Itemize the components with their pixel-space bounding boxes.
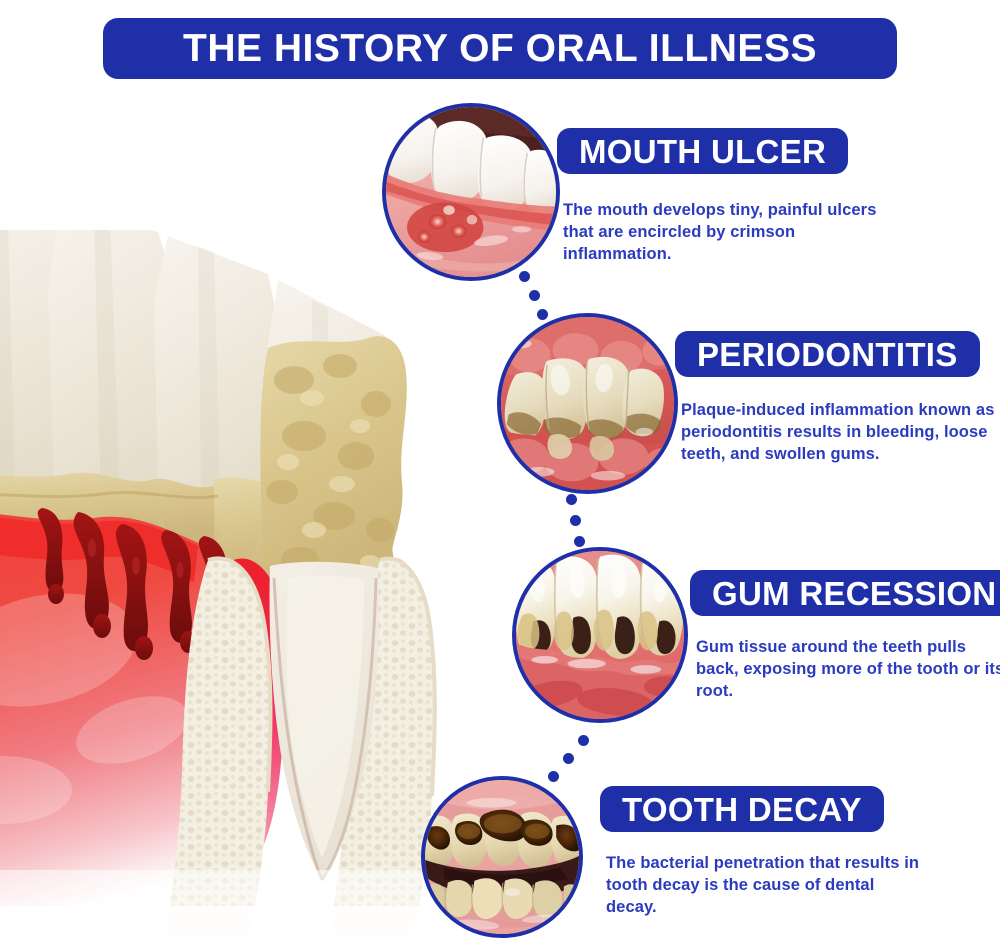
connector-dot	[537, 309, 548, 320]
photo-gum-recession	[512, 547, 688, 723]
heading-tooth-decay-label: TOOTH DECAY	[622, 793, 862, 826]
photo-periodontitis	[497, 313, 678, 494]
connector-dot	[519, 271, 530, 282]
body-gum-recession: Gum tissue around the teeth pulls back, …	[696, 637, 1000, 703]
connector-dot	[548, 771, 559, 782]
heading-gum-recession: GUM RECESSION	[690, 570, 1000, 616]
body-tooth-decay: The bacterial penetration that results i…	[606, 853, 926, 919]
heading-tooth-decay: TOOTH DECAY	[600, 786, 884, 832]
heading-periodontitis: PERIODONTITIS	[675, 331, 980, 377]
connector-dot	[578, 735, 589, 746]
anatomy-illustration	[0, 230, 452, 938]
heading-periodontitis-label: PERIODONTITIS	[697, 338, 958, 371]
body-mouth-ulcer: The mouth develops tiny, painful ulcers …	[563, 200, 893, 266]
page-title-bar: THE HISTORY OF ORAL ILLNESS	[103, 18, 897, 79]
page-title: THE HISTORY OF ORAL ILLNESS	[183, 29, 817, 68]
connector-dot	[574, 536, 585, 547]
infographic-canvas: THE HISTORY OF ORAL ILLNESS	[0, 0, 1000, 938]
heading-mouth-ulcer: MOUTH ULCER	[557, 128, 848, 174]
connector-dot	[529, 290, 540, 301]
photo-tooth-decay	[421, 776, 583, 938]
body-periodontitis: Plaque-induced inflammation known as per…	[681, 400, 1000, 466]
connector-dot	[566, 494, 577, 505]
heading-gum-recession-label: GUM RECESSION	[712, 577, 996, 610]
photo-mouth-ulcer	[382, 103, 560, 281]
connector-dot	[570, 515, 581, 526]
connector-dot	[563, 753, 574, 764]
heading-mouth-ulcer-label: MOUTH ULCER	[579, 135, 826, 168]
